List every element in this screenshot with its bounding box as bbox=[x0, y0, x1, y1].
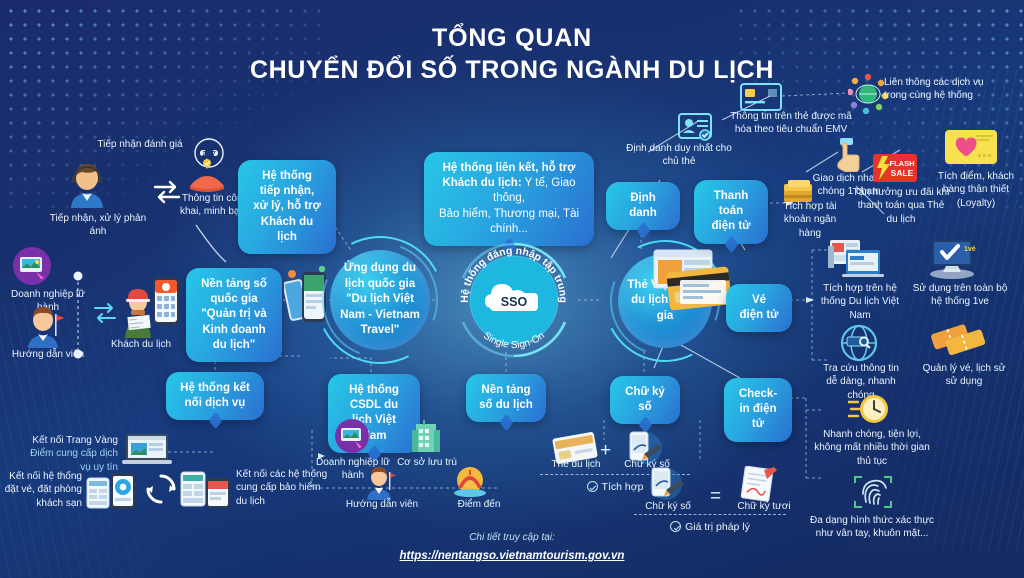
pill-echeckin[interactable]: Check-in điện tử bbox=[724, 378, 792, 442]
csdl-destination-icon bbox=[452, 466, 488, 498]
hub-app-label: Ứng dụng du lịch quốc gia "Du lịch Việt … bbox=[330, 250, 430, 350]
caption-yellow-pages: Kết nối Trang Vàng Điểm cung cấp dịch vụ… bbox=[24, 434, 118, 474]
wet-signature-document-icon bbox=[738, 466, 780, 502]
pill-national-platform[interactable]: Nền tảng số quốc gia "Quản trị và Kinh d… bbox=[186, 268, 282, 362]
caption-sig-wet: Chữ ký tươi bbox=[728, 500, 800, 513]
card-browser-icon bbox=[646, 248, 734, 310]
equals-symbol: = bbox=[710, 486, 721, 508]
caption-eticket-benefit-1: Tích hợp trên hệ thống Du lịch Việt Nam bbox=[818, 282, 902, 322]
digital-signature-icon-2 bbox=[644, 466, 688, 502]
caption-tourist: Khách du lịch bbox=[96, 338, 186, 351]
plus-symbol: + bbox=[600, 440, 611, 462]
sso-rings: Hệ thống đăng nhập tập trung Single Sign… bbox=[452, 238, 576, 362]
interoperability-network-icon bbox=[848, 74, 888, 114]
actors-bracket bbox=[68, 268, 88, 364]
mobile-app-icon bbox=[152, 276, 180, 326]
caption-yellow-pages-main: Kết nối Trang Vàng bbox=[32, 435, 118, 446]
pill-digital-signature[interactable]: Chữ ký số bbox=[610, 376, 680, 424]
pill-identity[interactable]: Định danh bbox=[606, 182, 680, 230]
pill-service-connect[interactable]: Hệ thống kết nối dịch vụ bbox=[166, 372, 264, 420]
booking-phones-icon bbox=[86, 472, 138, 510]
one-touch-hand-icon bbox=[834, 138, 864, 172]
yellow-pages-laptop-icon bbox=[122, 432, 174, 466]
csdl-accommodation-icon bbox=[410, 418, 442, 454]
vietnam-travel-system-icon bbox=[828, 236, 886, 278]
caption-handle-feedback: Tiếp nhận, xử lý phản ánh bbox=[42, 212, 154, 239]
svg-text:1vé: 1vé bbox=[964, 246, 976, 253]
caption-eticket-benefit-4: Quản lý vé, lịch sử sử dụng bbox=[918, 362, 1010, 389]
insurance-phones-icon bbox=[180, 470, 232, 510]
tour-guide-icon bbox=[24, 306, 64, 348]
svg-text:FLASH: FLASH bbox=[890, 159, 915, 168]
caption-receive-reviews: Tiếp nhận đánh giá bbox=[92, 138, 188, 151]
pill-link-system[interactable]: Hệ thống liên kết, hỗ trợ Khách du lịch:… bbox=[424, 152, 594, 246]
sync-circle-icon bbox=[146, 474, 176, 504]
caption-bank-account: Tích hợp tài khoản ngân hàng bbox=[772, 200, 848, 240]
svg-text:SSO: SSO bbox=[501, 295, 528, 309]
check-icon-1 bbox=[587, 481, 598, 492]
csdl-travel-business-icon bbox=[334, 418, 370, 454]
travel-business-icon bbox=[12, 246, 52, 286]
emv-chip-card-icon bbox=[740, 82, 782, 112]
caption-checkin-benefit-1: Nhanh chóng, tiện lợi, không mất nhiều t… bbox=[812, 428, 932, 468]
caption-csdl-destination: Điểm đến bbox=[448, 498, 510, 511]
caption-unique-identity: Định danh duy nhất cho chủ thẻ bbox=[622, 142, 736, 169]
caption-sig-digital-c: Chữ ký số bbox=[634, 500, 702, 513]
sync-arrows-icon bbox=[92, 300, 118, 326]
pill-link-system-line1: Hệ thống liên kết, hỗ trợ bbox=[443, 162, 576, 174]
hub-national-app[interactable]: Ứng dụng du lịch quốc gia "Du lịch Việt … bbox=[316, 236, 444, 364]
pill-support-system[interactable]: Hệ thống tiếp nhận, xử lý, hỗ trợ Khách … bbox=[238, 160, 336, 254]
fingerprint-scan-icon bbox=[854, 474, 892, 510]
pill-eticket[interactable]: Vé điện tử bbox=[726, 284, 792, 332]
footer-url[interactable]: https://nentangso.vietnamtourism.gov.vn bbox=[400, 550, 625, 562]
check-icon-2 bbox=[670, 521, 681, 532]
caption-booking-connect: Kết nối hệ thống đặt vé, đặt phòng khách… bbox=[0, 470, 82, 510]
pill-digital-platform[interactable]: Nền tảng số du lịch bbox=[466, 374, 546, 422]
id-card-icon bbox=[678, 112, 712, 142]
flash-sale-icon: FLASH SALE bbox=[872, 152, 918, 186]
1ve-monitor-icon: 1vé bbox=[924, 238, 980, 280]
search-globe-icon bbox=[840, 324, 878, 362]
pill-link-system-line3: Bảo hiểm, Thương mại, Tài chính... bbox=[439, 208, 579, 235]
caption-csdl-accommodation: Cơ sở lưu trú bbox=[396, 456, 458, 469]
pill-link-system-line2: Khách du lịch: bbox=[442, 177, 521, 189]
caption-eticket-benefit-2: Sử dụng trên toàn bộ hệ thống 1ve bbox=[908, 282, 1012, 309]
sso-hub[interactable]: Hệ thống đăng nhập tập trung Single Sign… bbox=[452, 238, 576, 362]
ticket-management-icon bbox=[930, 322, 992, 362]
footer-label: Chi tiết truy cập tại: bbox=[0, 532, 1024, 543]
pill-epayment[interactable]: Thanh toán điện tử bbox=[694, 180, 768, 244]
caption-interoperability: Liên thông các dịch vụ trong cùng hệ thố… bbox=[884, 76, 988, 103]
footer: Chi tiết truy cập tại: https://nentangso… bbox=[0, 532, 1024, 564]
infographic-canvas: TỔNG QUAN CHUYỂN ĐỔI SỐ TRONG NGÀNH DU L… bbox=[0, 0, 1024, 578]
fast-clock-icon bbox=[848, 392, 892, 426]
title-line-1: TỔNG QUAN bbox=[0, 22, 1024, 54]
sig-divider-2 bbox=[634, 514, 786, 515]
loyalty-card-icon bbox=[944, 128, 998, 166]
transparency-hand-icon bbox=[186, 156, 228, 192]
caption-emv: Thông tin trên thẻ được mã hóa theo tiêu… bbox=[728, 110, 854, 137]
support-agent-icon bbox=[66, 162, 108, 208]
svg-text:SALE: SALE bbox=[891, 168, 914, 178]
caption-loyalty: Tích điểm, khách hàng thân thiết (Loyalt… bbox=[930, 170, 1022, 210]
sig-result-1-text: Tích hợp bbox=[602, 481, 644, 493]
caption-csdl-guide: Hướng dẫn viên bbox=[336, 498, 428, 511]
csdl-tour-guide-icon bbox=[364, 466, 396, 500]
